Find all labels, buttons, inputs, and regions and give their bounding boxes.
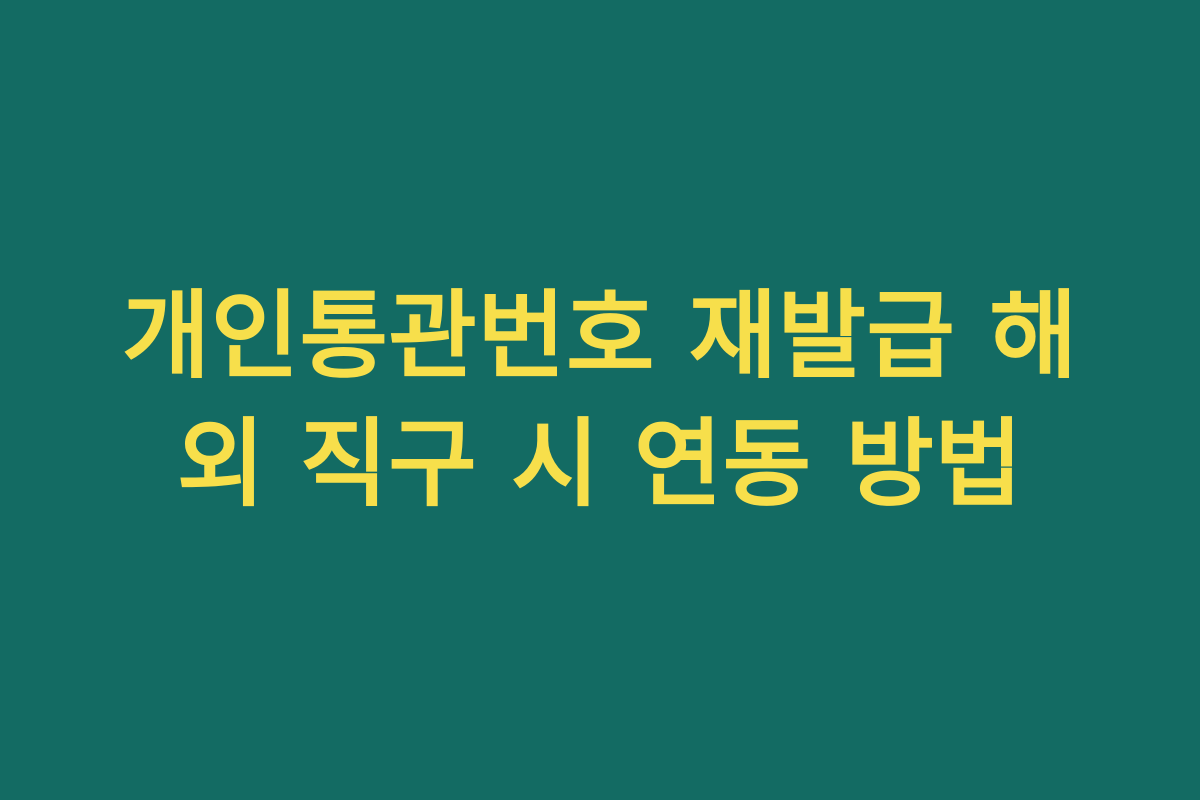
banner-title-block: 개인통관번호 재발급 해 외 직구 시 연동 방법 — [80, 277, 1120, 523]
banner-title-line-1: 개인통관번호 재발급 해 — [80, 277, 1120, 395]
banner-title-line-2: 외 직구 시 연동 방법 — [80, 405, 1120, 523]
banner-canvas: 개인통관번호 재발급 해 외 직구 시 연동 방법 — [0, 0, 1200, 800]
